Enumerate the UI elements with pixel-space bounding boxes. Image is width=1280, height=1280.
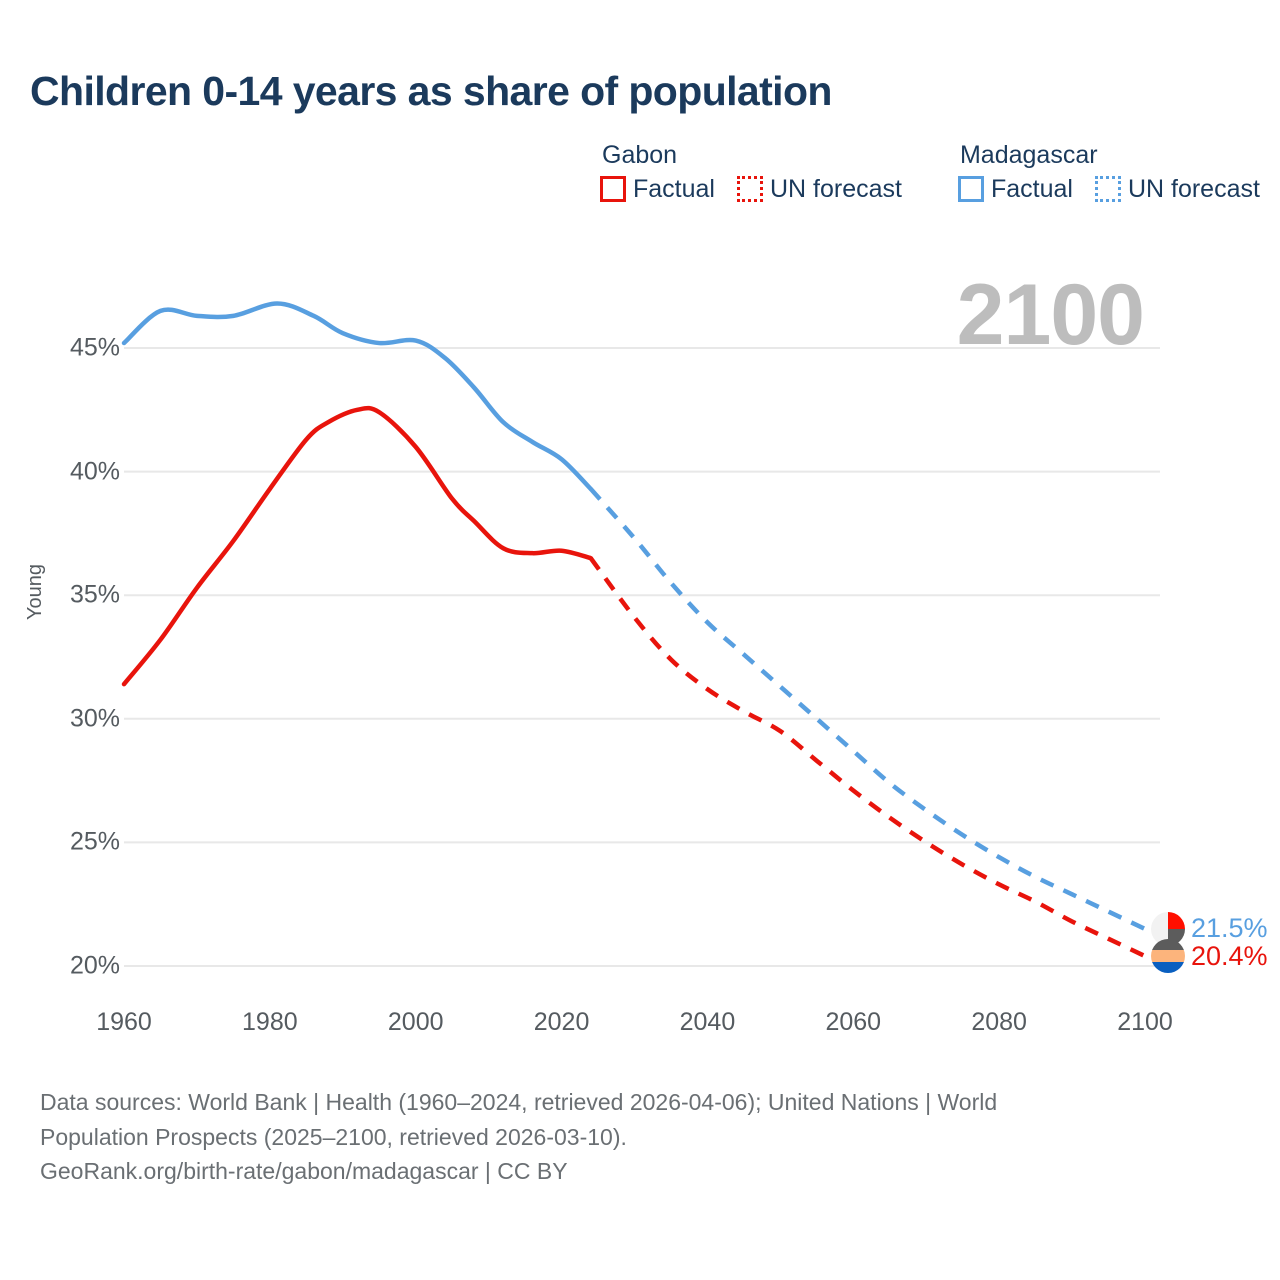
footer-line-1: Data sources: World Bank | Health (1960–…	[40, 1085, 1200, 1120]
y-axis-title: Young	[24, 564, 47, 620]
x-tick-label: 2020	[534, 1008, 590, 1037]
footer-line-3: GeoRank.org/birth-rate/gabon/madagascar …	[40, 1154, 1200, 1189]
x-tick-label: 2100	[1117, 1008, 1173, 1037]
footer-sources: Data sources: World Bank | Health (1960–…	[40, 1085, 1200, 1189]
x-tick-label: 2040	[680, 1008, 736, 1037]
y-tick-label: 30%	[70, 704, 120, 733]
y-tick-label: 40%	[70, 457, 120, 486]
y-tick-label: 45%	[70, 334, 120, 363]
plot-area: 2100 20%25%30%35%40%45% 1960198020002020…	[0, 0, 1280, 1060]
y-tick-label: 25%	[70, 828, 120, 857]
endpoint-marker-gabon[interactable]: 20.4%	[1151, 939, 1268, 973]
x-tick-label: 2080	[971, 1008, 1027, 1037]
chart-page: Children 0-14 years as share of populati…	[0, 0, 1280, 1280]
chart-canvas	[0, 0, 1280, 1060]
x-tick-label: 1980	[242, 1008, 298, 1037]
y-tick-label: 35%	[70, 581, 120, 610]
x-tick-label: 1960	[96, 1008, 152, 1037]
footer-line-2: Population Prospects (2025–2100, retriev…	[40, 1120, 1200, 1155]
gabon-flag-icon	[1151, 939, 1185, 973]
endpoint-value-gabon: 20.4%	[1191, 943, 1268, 970]
x-tick-label: 2000	[388, 1008, 444, 1037]
x-tick-label: 2060	[825, 1008, 881, 1037]
y-tick-label: 20%	[70, 952, 120, 981]
